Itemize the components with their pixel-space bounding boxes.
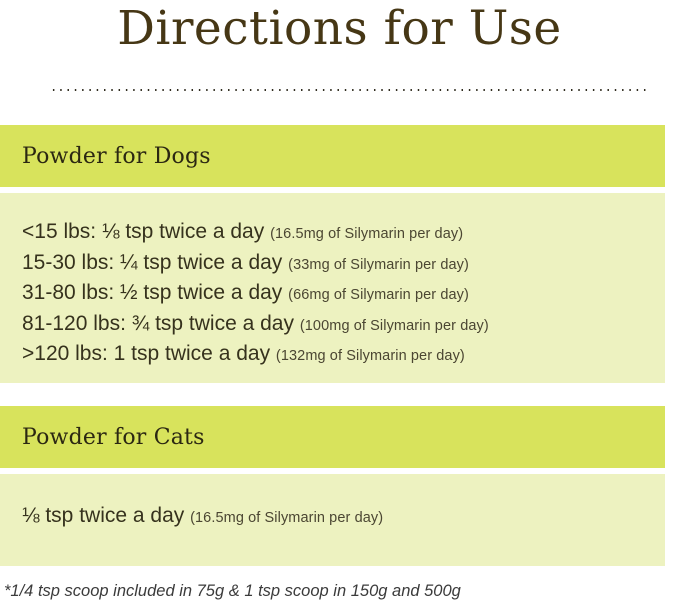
dose-line: 15-30 lbs: ¼ tsp twice a day (33mg of Si… [22,249,665,280]
dose-silymarin-note: (100mg of Silymarin per day) [300,318,489,334]
dotted-divider [50,88,648,92]
section-body-powder-for-dogs: <15 lbs: ⅛ tsp twice a day (16.5mg of Si… [0,193,665,383]
page-title: Directions for Use [0,0,679,60]
dose-silymarin-note: (33mg of Silymarin per day) [288,257,469,273]
dose-silymarin-note: (16.5mg of Silymarin per day) [270,226,463,242]
directions-for-use-panel: Directions for Use Powder for Dogs <15 l… [0,0,679,608]
section-header-powder-for-dogs: Powder for Dogs [0,125,665,187]
dose-amount: 15-30 lbs: ¼ tsp twice a day [22,251,282,274]
dose-line: ⅛ tsp twice a day (16.5mg of Silymarin p… [22,502,665,533]
section-header-label: Powder for Cats [22,425,205,450]
footnote-scoop-info: *1/4 tsp scoop included in 75g & 1 tsp s… [4,580,461,602]
dose-silymarin-note: (66mg of Silymarin per day) [288,287,469,303]
section-body-powder-for-cats: ⅛ tsp twice a day (16.5mg of Silymarin p… [0,474,665,566]
dose-silymarin-note: (16.5mg of Silymarin per day) [190,510,383,526]
dose-amount: ⅛ tsp twice a day [22,504,184,527]
dose-amount: <15 lbs: ⅛ tsp twice a day [22,220,264,243]
dose-line: 81-120 lbs: ¾ tsp twice a day (100mg of … [22,310,665,341]
section-header-label: Powder for Dogs [22,144,211,169]
dose-line: 31-80 lbs: ½ tsp twice a day (66mg of Si… [22,279,665,310]
dose-amount: 81-120 lbs: ¾ tsp twice a day [22,312,294,335]
dose-amount: >120 lbs: 1 tsp twice a day [22,342,270,365]
dose-line: >120 lbs: 1 tsp twice a day (132mg of Si… [22,340,665,371]
dose-line: <15 lbs: ⅛ tsp twice a day (16.5mg of Si… [22,218,665,249]
section-header-powder-for-cats: Powder for Cats [0,406,665,468]
dose-silymarin-note: (132mg of Silymarin per day) [276,348,465,364]
dose-amount: 31-80 lbs: ½ tsp twice a day [22,281,282,304]
